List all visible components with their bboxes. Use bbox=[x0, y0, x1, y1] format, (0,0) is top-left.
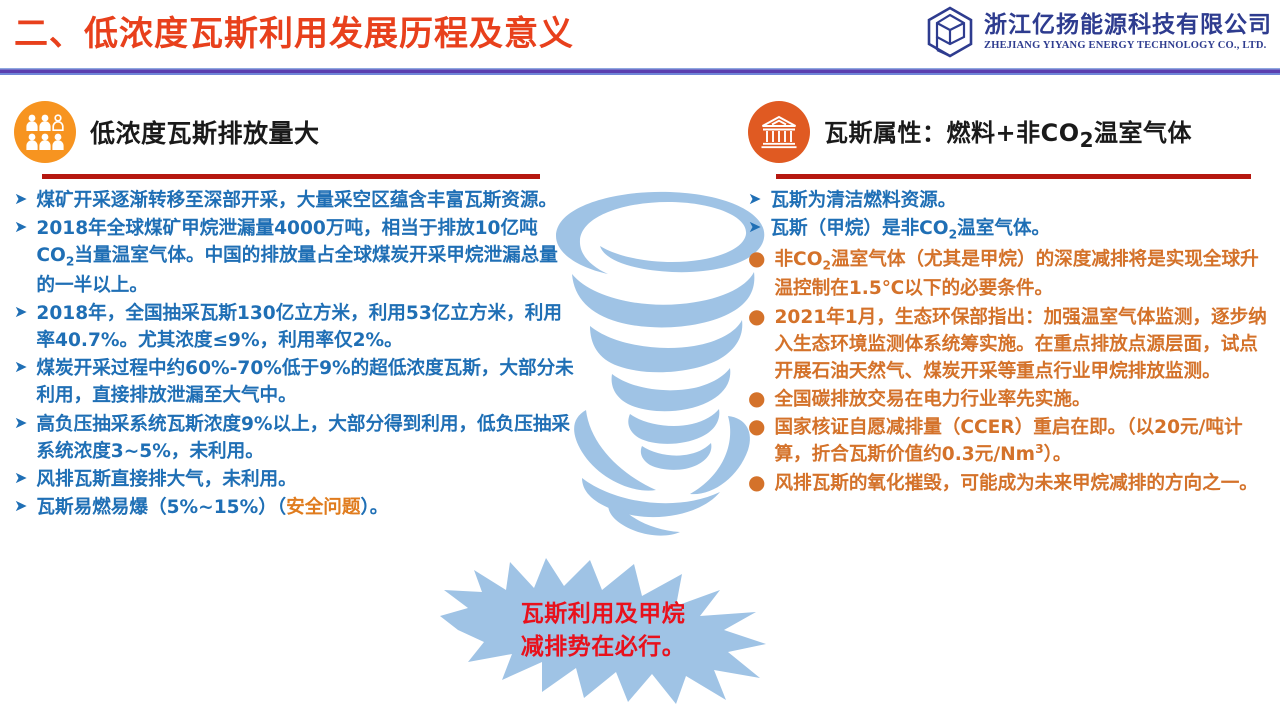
right-bullet-text: 风排瓦斯的氧化摧毁，可能成为未来甲烷减排的方向之一。 bbox=[774, 470, 1268, 497]
people-group-glyph bbox=[25, 113, 65, 151]
right-bullet-text: 瓦斯（甲烷）是非CO2温室气体。 bbox=[770, 215, 1268, 245]
bullet-arrow-icon: ➤ bbox=[14, 411, 27, 434]
left-bullet-item: ➤煤炭开采过程中约60%-70%低于9%的超低浓度瓦斯，大部分未利用，直接排放泄… bbox=[14, 355, 574, 409]
right-bullet-item: ➤瓦斯为清洁燃料资源。 bbox=[748, 187, 1268, 214]
right-bullet-item: ●非CO2温室气体（尤其是甲烷）的深度减排将是实现全球升温控制在1.5℃以下的必… bbox=[748, 246, 1268, 303]
right-bullet-item: ➤瓦斯（甲烷）是非CO2温室气体。 bbox=[748, 215, 1268, 245]
left-bullet-text: 风排瓦斯直接排大气，未利用。 bbox=[36, 466, 574, 493]
company-logo: 浙江亿扬能源科技有限公司 ZHEJIANG YIYANG ENERGY TECH… bbox=[926, 6, 1272, 58]
left-bullet-item: ➤煤矿开采逐渐转移至深部开采，大量采空区蕴含丰富瓦斯资源。 bbox=[14, 187, 574, 214]
right-bullet-text: 非CO2温室气体（尤其是甲烷）的深度减排将是实现全球升温控制在1.5℃以下的必要… bbox=[774, 246, 1268, 303]
right-column-heading: 瓦斯属性：燃料+非CO2温室气体 bbox=[824, 113, 1192, 152]
left-bullet-text: 2018年全球煤矿甲烷泄漏量4000万吨，相当于排放10亿吨CO2当量温室气体。… bbox=[36, 215, 574, 299]
bullet-arrow-icon: ➤ bbox=[14, 466, 27, 489]
left-column-header: 低浓度瓦斯排放量大 bbox=[14, 100, 574, 164]
bullet-dot-icon: ● bbox=[748, 414, 765, 439]
bullet-dot-icon: ● bbox=[748, 304, 765, 329]
right-bullet-item: ●国家核证自愿减排量（CCER）重启在即。（以20元/吨计算，折合瓦斯价值约0.… bbox=[748, 414, 1268, 468]
hexagon-cube-logo-icon bbox=[926, 6, 974, 58]
bullet-dot-icon: ● bbox=[748, 386, 765, 411]
bullet-arrow-icon: ➤ bbox=[14, 215, 27, 238]
left-bullet-text: 煤炭开采过程中约60%-70%低于9%的超低浓度瓦斯，大部分未利用，直接排放泄漏… bbox=[36, 355, 574, 409]
bullet-arrow-icon: ➤ bbox=[14, 355, 27, 378]
logo-company-name-en: ZHEJIANG YIYANG ENERGY TECHNOLOGY CO., L… bbox=[984, 40, 1272, 51]
right-bullet-item: ●风排瓦斯的氧化摧毁，可能成为未来甲烷减排的方向之一。 bbox=[748, 470, 1268, 497]
left-bullet-list: ➤煤矿开采逐渐转移至深部开采，大量采空区蕴含丰富瓦斯资源。➤2018年全球煤矿甲… bbox=[14, 187, 574, 521]
left-bullet-item: ➤瓦斯易燃易爆（5%~15%）（安全问题）。 bbox=[14, 494, 574, 521]
bullet-arrow-icon: ➤ bbox=[14, 494, 27, 517]
left-bullet-text: 2018年，全国抽采瓦斯130亿立方米，利用53亿立方米，利用率40.7%。尤其… bbox=[36, 300, 574, 354]
bullet-arrow-icon: ➤ bbox=[748, 187, 761, 210]
right-bullet-list: ➤瓦斯为清洁燃料资源。➤瓦斯（甲烷）是非CO2温室气体。●非CO2温室气体（尤其… bbox=[748, 187, 1268, 497]
left-bullet-item: ➤2018年全球煤矿甲烷泄漏量4000万吨，相当于排放10亿吨CO2当量温室气体… bbox=[14, 215, 574, 299]
bullet-arrow-icon: ➤ bbox=[14, 187, 27, 210]
title-divider bbox=[0, 68, 1280, 75]
right-column-rule bbox=[776, 174, 1251, 179]
people-group-icon bbox=[14, 101, 76, 163]
right-bullet-text: 瓦斯为清洁燃料资源。 bbox=[770, 187, 1268, 214]
bullet-arrow-icon: ➤ bbox=[748, 215, 761, 238]
right-bullet-text: 国家核证自愿减排量（CCER）重启在即。（以20元/吨计算，折合瓦斯价值约0.3… bbox=[774, 414, 1268, 468]
bank-building-glyph bbox=[760, 114, 798, 150]
left-bullet-text: 瓦斯易燃易爆（5%~15%）（安全问题）。 bbox=[36, 494, 574, 521]
starburst-callout: 瓦斯利用及甲烷 减排势在必行。 bbox=[438, 556, 768, 706]
right-bullet-text: 2021年1月，生态环保部指出：加强温室气体监测，逐步纳入生态环境监测体系统筹实… bbox=[774, 304, 1268, 385]
callout-line-2: 减排势在必行。 bbox=[521, 631, 686, 664]
callout-line-1: 瓦斯利用及甲烷 bbox=[521, 598, 686, 631]
bullet-arrow-icon: ➤ bbox=[14, 300, 27, 323]
logo-company-name-cn: 浙江亿扬能源科技有限公司 bbox=[984, 13, 1272, 37]
page-title: 二、低浓度瓦斯利用发展历程及意义 bbox=[14, 8, 574, 60]
bank-building-icon bbox=[748, 101, 810, 163]
bullet-dot-icon: ● bbox=[748, 246, 765, 271]
starburst-callout-text: 瓦斯利用及甲烷 减排势在必行。 bbox=[438, 556, 768, 706]
left-bullet-text: 煤矿开采逐渐转移至深部开采，大量采空区蕴含丰富瓦斯资源。 bbox=[36, 187, 574, 214]
left-bullet-item: ➤风排瓦斯直接排大气，未利用。 bbox=[14, 466, 574, 493]
right-column: 瓦斯属性：燃料+非CO2温室气体 ➤瓦斯为清洁燃料资源。➤瓦斯（甲烷）是非CO2… bbox=[748, 100, 1268, 498]
right-bullet-item: ●2021年1月，生态环保部指出：加强温室气体监测，逐步纳入生态环境监测体系统筹… bbox=[748, 304, 1268, 385]
left-column-rule bbox=[42, 174, 540, 179]
left-bullet-item: ➤高负压抽采系统瓦斯浓度9%以上，大部分得到利用，低负压抽采系统浓度3~5%，未… bbox=[14, 411, 574, 465]
left-column-heading: 低浓度瓦斯排放量大 bbox=[90, 114, 320, 150]
bullet-dot-icon: ● bbox=[748, 470, 765, 495]
right-bullet-item: ●全国碳排放交易在电力行业率先实施。 bbox=[748, 386, 1268, 413]
left-bullet-item: ➤2018年，全国抽采瓦斯130亿立方米，利用53亿立方米，利用率40.7%。尤… bbox=[14, 300, 574, 354]
right-column-header: 瓦斯属性：燃料+非CO2温室气体 bbox=[748, 100, 1268, 164]
right-bullet-text: 全国碳排放交易在电力行业率先实施。 bbox=[774, 386, 1268, 413]
left-column: 低浓度瓦斯排放量大 ➤煤矿开采逐渐转移至深部开采，大量采空区蕴含丰富瓦斯资源。➤… bbox=[14, 100, 574, 522]
left-bullet-text: 高负压抽采系统瓦斯浓度9%以上，大部分得到利用，低负压抽采系统浓度3~5%，未利… bbox=[36, 411, 574, 465]
